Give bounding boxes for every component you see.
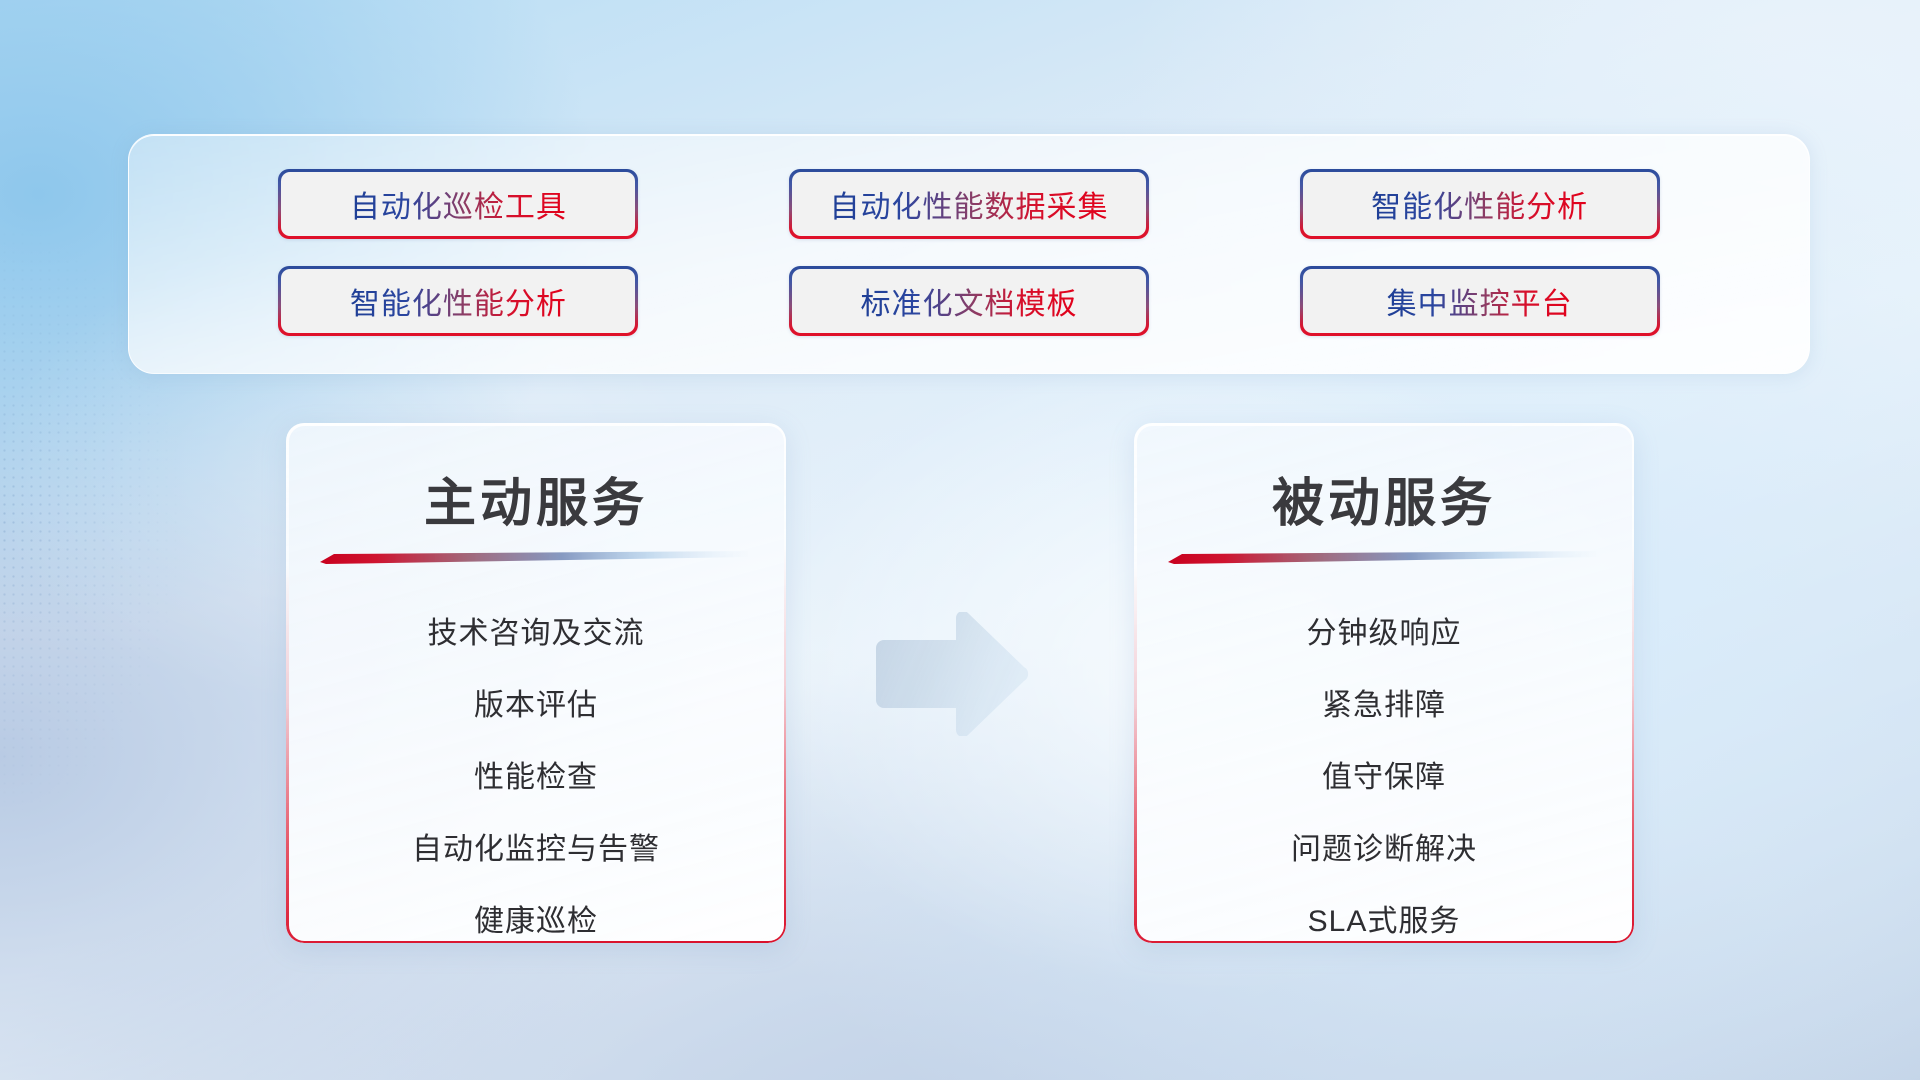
card-item-list: 分钟级响应 紧急排障 值守保障 问题诊断解决 SLA式服务 [1134,598,1634,958]
capability-tag-surface: 集中监控平台 [1303,269,1657,333]
card-list-item: 健康巡检 [286,886,786,958]
capability-tag-surface: 智能化性能分析 [1303,172,1657,236]
capabilities-panel: 自动化巡检工具 自动化性能数据采集 智能化性能分析 智能化性能分析 标准化文档模… [128,134,1810,374]
capability-tag-grid: 自动化巡检工具 自动化性能数据采集 智能化性能分析 智能化性能分析 标准化文档模… [129,135,1809,373]
card-list-item: 值守保障 [1134,742,1634,814]
card-divider-gradient [320,551,752,564]
card-list-item: 技术咨询及交流 [286,598,786,670]
capability-tag-label: 自动化巡检工具 [350,182,567,226]
card-title: 被动服务 [1134,461,1634,536]
capability-tag-surface: 自动化性能数据采集 [792,172,1146,236]
capability-tag[interactable]: 自动化性能数据采集 [789,169,1149,239]
capability-tag-label: 自动化性能数据采集 [829,182,1108,226]
card-title: 主动服务 [286,461,786,536]
card-item-list: 技术咨询及交流 版本评估 性能检查 自动化监控与告警 健康巡检 [286,598,786,958]
card-list-item: 性能检查 [286,742,786,814]
service-card-active[interactable]: 主动服务 技术咨询及交流 版本评估 性能检查 自动化监控与告警 健康巡检 [286,423,786,943]
capability-tag-surface: 标准化文档模板 [792,269,1146,333]
capability-tag[interactable]: 标准化文档模板 [789,266,1149,336]
capability-tag-label: 智能化性能分析 [1371,182,1588,226]
capability-tag-surface: 自动化巡检工具 [281,172,635,236]
card-list-item: 紧急排障 [1134,670,1634,742]
service-card-passive[interactable]: 被动服务 分钟级响应 紧急排障 值守保障 问题诊断解决 SLA式服务 [1134,423,1634,943]
capability-tag[interactable]: 自动化巡检工具 [278,169,638,239]
card-list-item: 自动化监控与告警 [286,814,786,886]
card-divider-gradient [1168,551,1600,564]
capability-tag-surface: 智能化性能分析 [281,269,635,333]
card-list-item: 分钟级响应 [1134,598,1634,670]
capability-tag[interactable]: 集中监控平台 [1300,266,1660,336]
capability-tag[interactable]: 智能化性能分析 [278,266,638,336]
capability-tag-label: 集中监控平台 [1387,279,1573,323]
card-list-item: SLA式服务 [1134,886,1634,958]
card-list-item: 版本评估 [286,670,786,742]
capability-tag-label: 智能化性能分析 [350,279,567,323]
card-list-item: 问题诊断解决 [1134,814,1634,886]
arrow-right-icon [866,612,1030,736]
capability-tag-label: 标准化文档模板 [860,279,1077,323]
capability-tag[interactable]: 智能化性能分析 [1300,169,1660,239]
